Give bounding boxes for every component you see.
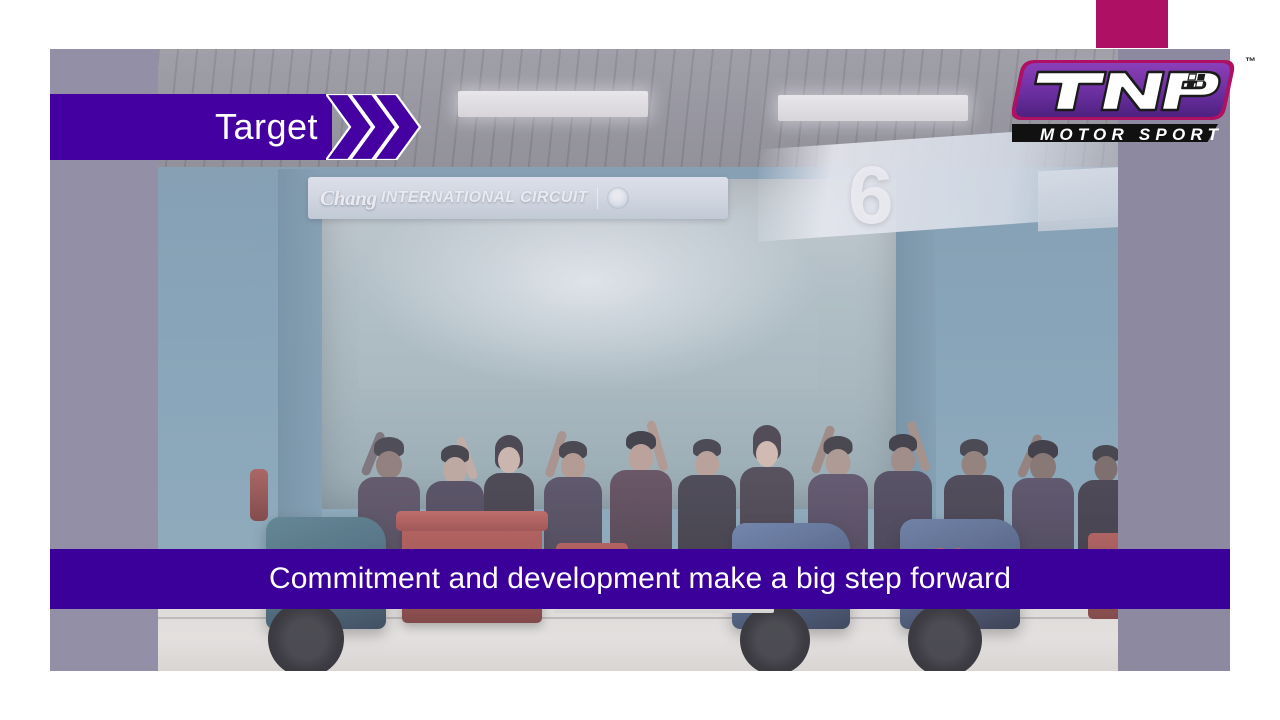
tnp-motorsport-logo: MOTOR SPORT ™ [1012,52,1258,148]
team-head [376,451,402,479]
circuit-sign-brand: Chang [320,186,377,211]
trademark-symbol: ™ [1245,56,1256,68]
circuit-sign-name: INTERNATIONAL CIRCUIT [381,189,588,207]
ceiling-light [458,91,648,117]
team-head [1030,453,1056,481]
team-head [498,447,520,473]
slide-title-banner: Target [50,94,332,160]
bike-wheel [268,601,344,671]
team-head [891,447,915,474]
team-head [1095,456,1118,482]
team-head [561,453,585,480]
logo-tagline: MOTOR SPORT [1040,125,1223,144]
team-head [826,449,851,477]
team-head [756,441,778,467]
garage-number: 6 [848,149,894,243]
caption-text: Commitment and development make a big st… [269,562,1011,596]
sign-divider [597,187,598,209]
page-title: Target [215,109,318,145]
tool-chest-lid [396,511,548,531]
fire-extinguisher [250,469,268,521]
banner-panel-right [1038,167,1118,232]
bike-wheel [740,605,810,671]
accent-block [1096,0,1168,48]
team-head [629,444,654,472]
circuit-sign: Chang INTERNATIONAL CIRCUIT [308,177,728,219]
chevron-arrows-icon [326,94,422,160]
tnp-logo-icon: MOTOR SPORT [1012,52,1258,148]
garage-interior-glow [358,209,818,389]
chevron-group [326,94,422,160]
circuit-emblem-icon [607,187,629,209]
ceiling-light [778,95,968,121]
presentation-slide: 6 Chang INTERNATIONAL CIRCUIT [0,0,1280,720]
team-head [962,451,987,478]
bike-wheel [908,603,982,671]
team-head [443,457,467,484]
caption-bar: Commitment and development make a big st… [50,549,1230,609]
team-head [695,451,719,478]
